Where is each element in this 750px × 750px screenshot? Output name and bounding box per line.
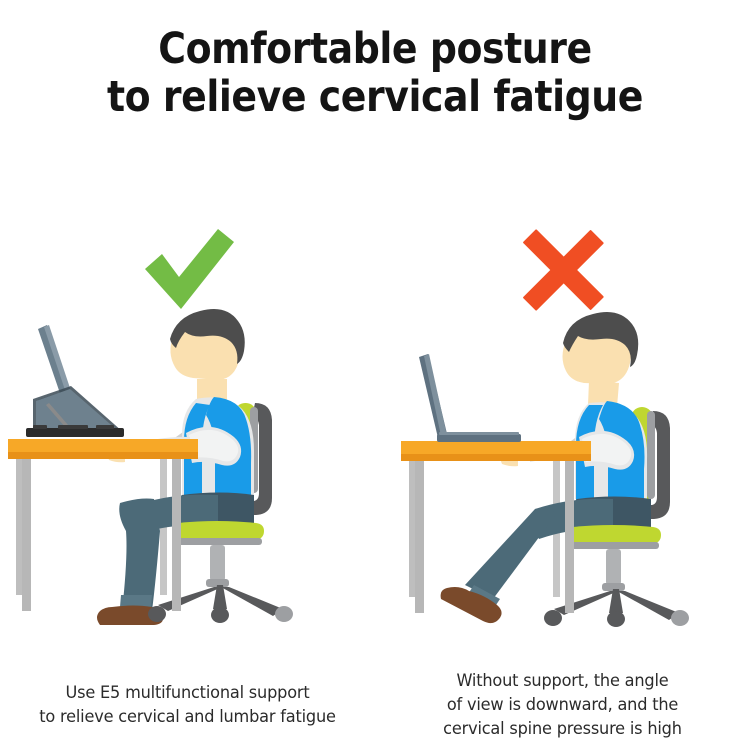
laptop-on-stand-left — [26, 325, 124, 437]
caption-incorrect-posture: Without support, the angle of view is do… — [375, 669, 750, 741]
panel-incorrect-posture — [375, 225, 750, 680]
caption-left-line-2: to relieve cervical and lumbar fatigue — [9, 705, 365, 729]
poster-root: Comfortable posture to relieve cervical … — [0, 0, 750, 750]
stand-base-left — [26, 428, 124, 437]
desk-leg — [172, 459, 181, 611]
page-title: Comfortable posture to relieve cervical … — [0, 26, 750, 121]
leg-left — [119, 499, 160, 612]
title-line-2: to relieve cervical fatigue — [45, 74, 705, 120]
desk-edge-left — [8, 452, 198, 459]
desk-top-left — [8, 439, 198, 452]
laptop-flat-right — [419, 354, 521, 442]
caption-left-line-1: Use E5 multifunctional support — [9, 681, 365, 705]
panel-correct-posture — [0, 225, 375, 680]
chair-wheel — [211, 607, 229, 623]
chair-wheel — [148, 606, 166, 622]
caption-right-line-2: of view is downward, and the — [384, 693, 740, 717]
chair-wheel — [544, 610, 562, 626]
scene-correct-posture — [0, 295, 375, 635]
desk-edge-right — [401, 454, 591, 461]
scene-incorrect-posture — [375, 295, 750, 635]
desk-top-right — [401, 441, 591, 454]
laptop-base-right — [437, 434, 521, 442]
title-line-1: Comfortable posture — [45, 26, 705, 72]
chair-seat-left — [178, 521, 264, 540]
desk-leg — [415, 461, 424, 613]
desk-leg — [565, 461, 574, 613]
chair-wheel — [275, 606, 293, 622]
chair-wheel — [607, 611, 625, 627]
caption-correct-posture: Use E5 multifunctional support to reliev… — [0, 681, 375, 729]
chair-wheel — [671, 610, 689, 626]
leg-right — [465, 509, 557, 600]
caption-right-line-1: Without support, the angle — [384, 669, 740, 693]
caption-right-line-3: cervical spine pressure is high — [384, 717, 740, 741]
desk-leg — [22, 459, 31, 611]
office-chair-left-front — [148, 521, 293, 623]
chair-seat-right — [573, 525, 661, 544]
